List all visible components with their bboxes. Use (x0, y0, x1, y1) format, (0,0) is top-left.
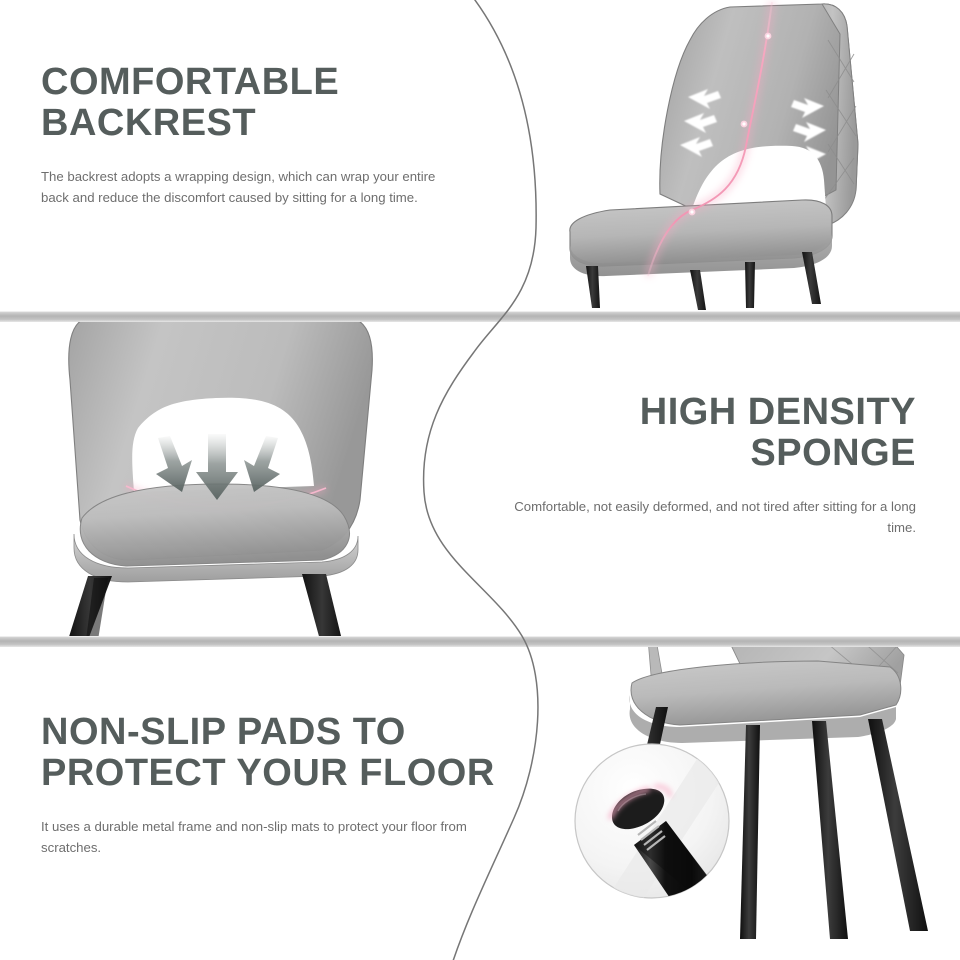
panel-high-density-sponge: HIGH DENSITY SPONGE Comfortable, not eas… (0, 322, 960, 636)
chair-legs-illustration (560, 647, 960, 960)
chair-leg-front-right (690, 270, 706, 310)
body-non-slip: It uses a durable metal frame and non-sl… (41, 816, 473, 859)
panel-comfortable-backrest: COMFORTABLE BACKREST The backrest adopts… (0, 0, 960, 311)
divider-bar-top (0, 311, 960, 322)
chair-leg-front-right-3 (812, 721, 848, 939)
text-block-non-slip: NON-SLIP PADS TO PROTECT YOUR FLOOR It u… (41, 712, 511, 859)
headline-sponge: HIGH DENSITY SPONGE (446, 392, 916, 474)
chair-leg-rear-right-3 (868, 719, 928, 931)
chair-image-backrest (540, 0, 960, 311)
magnifier-callout (575, 739, 736, 931)
divider-bar-bottom (0, 636, 960, 647)
infographic-page: COMFORTABLE BACKREST The backrest adopts… (0, 0, 960, 960)
chair-leg-front-center-3 (740, 725, 760, 939)
chair-image-sponge (30, 322, 450, 636)
chair-leg-rear-left (745, 262, 755, 308)
chair-image-legs (560, 647, 960, 959)
panel-non-slip-pads: NON-SLIP PADS TO PROTECT YOUR FLOOR It u… (0, 647, 960, 960)
headline-non-slip: NON-SLIP PADS TO PROTECT YOUR FLOOR (41, 712, 511, 794)
text-block-backrest: COMFORTABLE BACKREST The backrest adopts… (41, 62, 471, 209)
seat-cushion-illustration (30, 322, 450, 636)
chair-backrest-illustration (540, 0, 960, 311)
chair-leg-front-left (586, 266, 600, 308)
chair-leg-right (302, 574, 342, 636)
seat-cushion-legs-panel (631, 661, 901, 725)
text-block-sponge: HIGH DENSITY SPONGE Comfortable, not eas… (446, 392, 916, 539)
headline-backrest: COMFORTABLE BACKREST (41, 62, 471, 144)
body-backrest: The backrest adopts a wrapping design, w… (41, 166, 453, 209)
body-sponge: Comfortable, not easily deformed, and no… (486, 496, 916, 539)
